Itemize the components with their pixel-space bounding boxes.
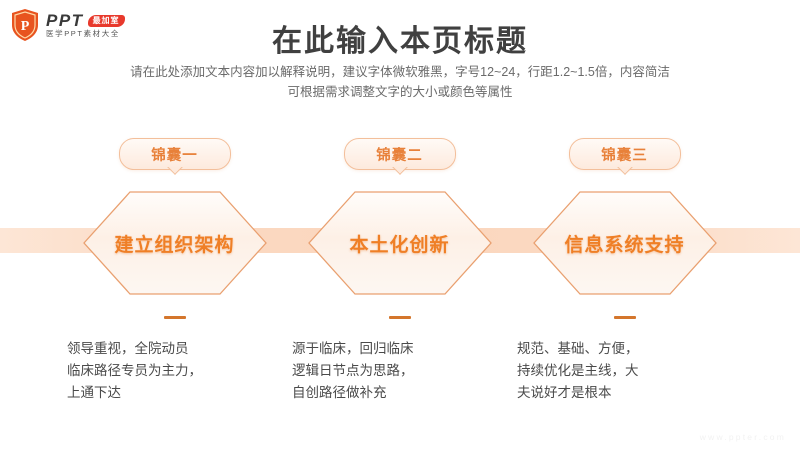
body-text-2: 源于临床，回归临床 逻辑日节点为思路， 自创路径做补充	[292, 338, 507, 404]
hexagon-3[interactable]: 信息系统支持	[532, 190, 718, 296]
body-2-line-3: 自创路径做补充	[292, 382, 507, 404]
column-3: 锦囊三 信息系统支持	[512, 0, 737, 450]
badge-3-bubble[interactable]: 锦囊三	[569, 138, 681, 170]
badge-1[interactable]: 锦囊一	[119, 138, 231, 170]
divider-dash-1	[164, 316, 186, 319]
badge-1-pointer-icon	[167, 167, 183, 178]
badge-3-label: 锦囊三	[601, 144, 648, 165]
divider-dash-2	[389, 316, 411, 319]
divider-dash-3	[614, 316, 636, 319]
body-3-line-3: 夫说好才是根本	[517, 382, 732, 404]
body-2-line-1: 源于临床，回归临床	[292, 338, 507, 360]
badge-2-bubble[interactable]: 锦囊二	[344, 138, 456, 170]
hexagon-2-label: 本土化创新	[307, 190, 493, 296]
body-2-line-2: 逻辑日节点为思路，	[292, 360, 507, 382]
body-1-line-2: 临床路径专员为主力，	[67, 360, 282, 382]
hexagon-1[interactable]: 建立组织架构	[82, 190, 268, 296]
column-1: 锦囊一 建立组织架构	[62, 0, 287, 450]
hexagon-1-label: 建立组织架构	[82, 190, 268, 296]
body-1-line-3: 上通下达	[67, 382, 282, 404]
columns-container: 锦囊一 建立组织架构	[0, 0, 800, 450]
footer-watermark: www.ppter.com	[700, 432, 786, 442]
column-2: 锦囊二 本土化创新	[287, 0, 512, 450]
badge-2-label: 锦囊二	[376, 144, 423, 165]
body-1-line-1: 领导重视，全院动员	[67, 338, 282, 360]
body-text-3: 规范、基础、方便， 持续优化是主线，大 夫说好才是根本	[517, 338, 732, 404]
badge-2-pointer-icon	[392, 167, 408, 178]
badge-1-label: 锦囊一	[151, 144, 198, 165]
hexagon-3-label: 信息系统支持	[532, 190, 718, 296]
body-3-line-2: 持续优化是主线，大	[517, 360, 732, 382]
badge-3[interactable]: 锦囊三	[569, 138, 681, 170]
body-3-line-1: 规范、基础、方便，	[517, 338, 732, 360]
badge-1-bubble[interactable]: 锦囊一	[119, 138, 231, 170]
body-text-1: 领导重视，全院动员 临床路径专员为主力， 上通下达	[67, 338, 282, 404]
hexagon-2[interactable]: 本土化创新	[307, 190, 493, 296]
badge-3-pointer-icon	[617, 167, 633, 178]
slide-canvas: P PPT 最加室 医学PPT素材大全 在此输入本页标题 请在此处添加文本内容加…	[0, 0, 800, 450]
badge-2[interactable]: 锦囊二	[344, 138, 456, 170]
